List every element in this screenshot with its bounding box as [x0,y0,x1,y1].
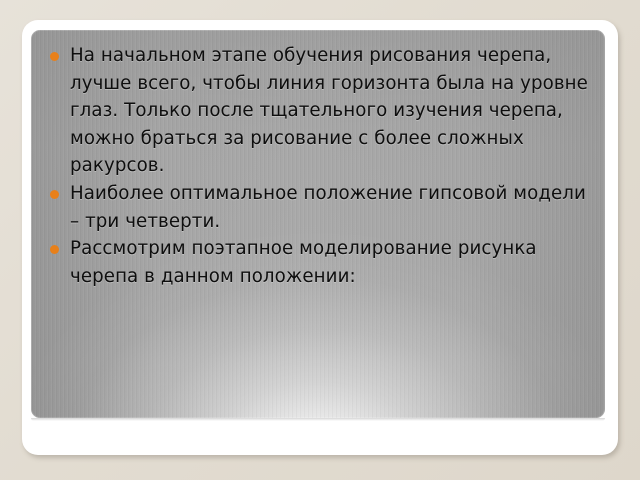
bullet-dot-icon [50,190,59,199]
list-item-text: Наиболее оптимальное положение гипсовой … [70,180,593,235]
list-item-text: На начальном этапе обучения рисования че… [70,42,593,180]
panel-bottom-shadow [31,418,605,421]
bullet-dot-icon [50,245,59,254]
bullet-dot-icon [50,52,59,61]
bullet-list: На начальном этапе обучения рисования че… [45,42,593,290]
brushed-metal-content-panel: На начальном этапе обучения рисования че… [31,30,605,418]
list-item: Рассмотрим поэтапное моделирование рисун… [45,235,593,290]
content-card-frame: На начальном этапе обучения рисования че… [22,20,618,455]
list-item-text: Рассмотрим поэтапное моделирование рисун… [70,235,593,290]
list-item: Наиболее оптимальное положение гипсовой … [45,180,593,235]
slide-canvas: На начальном этапе обучения рисования че… [0,0,640,480]
list-item: На начальном этапе обучения рисования че… [45,42,593,180]
